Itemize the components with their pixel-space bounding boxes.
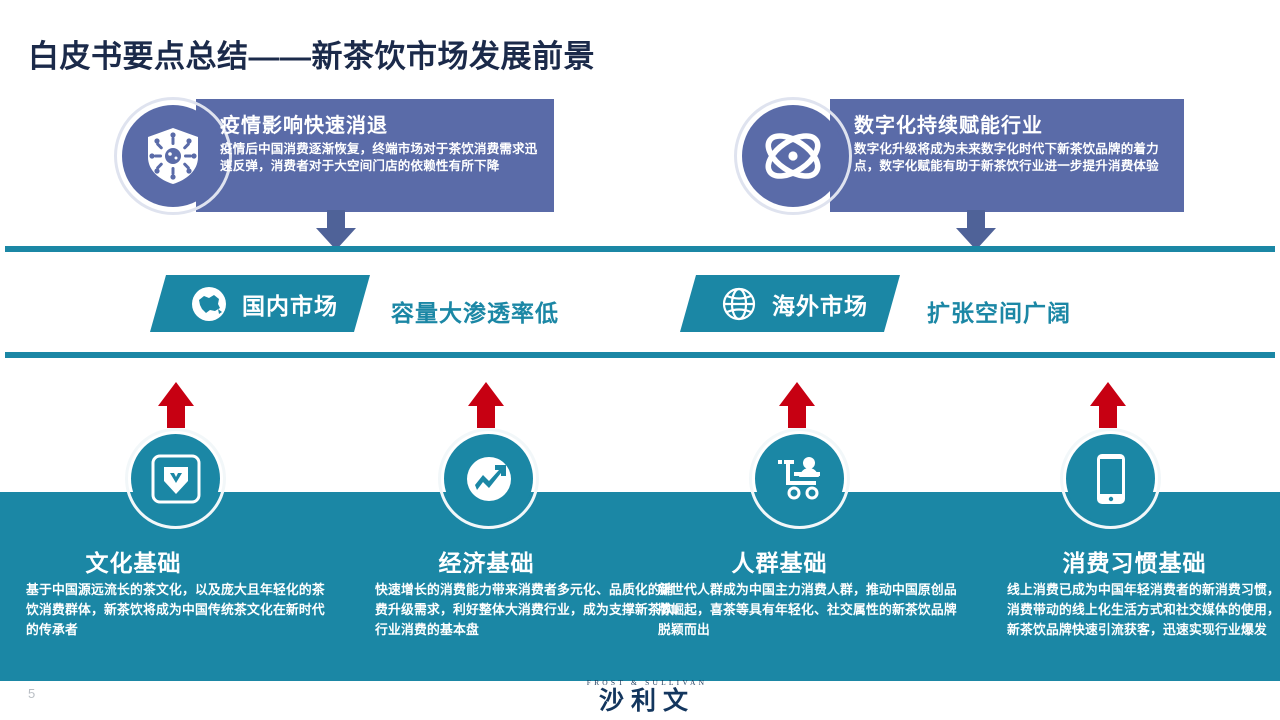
growth-chart-icon — [444, 434, 533, 523]
divider-rule-top — [5, 246, 1275, 252]
top-panel-digitalization[interactable]: 数字化持续赋能行业 数字化升级将成为未来数字化时代下新茶饮品牌的着力点，数字化赋… — [728, 97, 1184, 212]
card-body: 快速增长的消费能力带来消费者多元化、品质化的消费升级需求，利好整体大消费行业，成… — [375, 580, 680, 640]
divider-rule-bottom — [5, 352, 1275, 358]
arrow-head — [1090, 382, 1126, 406]
china-map-icon — [190, 285, 228, 323]
page-title: 白皮书要点总结——新茶饮市场发展前景 — [28, 31, 595, 76]
market-caption-domestic: 容量大渗透率低 — [391, 294, 559, 328]
arrow-stem — [1099, 405, 1117, 428]
panel-body: 数字化升级将成为未来数字化时代下新茶饮品牌的着力点，数字化赋能有助于新茶饮行业进… — [854, 141, 1176, 175]
arrow-stem — [788, 405, 806, 428]
up-arrow-economy — [468, 382, 504, 428]
panel-body: 疫情后中国消费逐渐恢复，终端市场对于茶饮消费需求迅速反弹，消费者对于大空间门店的… — [220, 141, 546, 175]
logo-chinese-text: 沙利文 — [572, 687, 722, 715]
arrow-stem — [327, 210, 345, 230]
up-arrow-population — [779, 382, 815, 428]
banner-domestic-market[interactable]: 国内市场 — [150, 275, 370, 332]
frost-sullivan-logo: FROST & SULLIVAN 沙利文 — [572, 678, 722, 715]
shopping-cart-person-icon — [755, 434, 844, 523]
down-arrow-right — [956, 210, 996, 250]
banner-label: 海外市场 — [772, 287, 868, 321]
mobile-phone-icon — [1066, 434, 1155, 523]
up-arrow-culture — [158, 382, 194, 428]
arrow-head — [468, 382, 504, 406]
card-title: 消费习惯基础 — [979, 544, 1280, 578]
page-number: 5 — [28, 686, 35, 701]
card-title: 人群基础 — [624, 544, 935, 578]
atom-icon — [742, 105, 844, 207]
arrow-stem — [477, 405, 495, 428]
slide-canvas: 白皮书要点总结——新茶饮市场发展前景 — [0, 0, 1280, 720]
shield-check-icon — [131, 434, 220, 523]
card-body: 线上消费已成为中国年轻消费者的新消费习惯，线上消费带动的线上化生活方式和社交媒体… — [1007, 580, 1280, 640]
arrow-head — [779, 382, 815, 406]
top-panel-epidemic[interactable]: 疫情影响快速消退 疫情后中国消费逐渐恢复，终端市场对于茶饮消费需求迅速反弹，消费… — [108, 97, 554, 212]
card-body: 新世代人群成为中国主力消费人群，推动中国原创品牌崛起，喜茶等具有年轻化、社交属性… — [658, 580, 963, 640]
arrow-head — [158, 382, 194, 406]
card-title: 经济基础 — [331, 544, 642, 578]
up-arrow-habits — [1090, 382, 1126, 428]
panel-title: 疫情影响快速消退 — [220, 109, 388, 138]
down-arrow-left — [316, 210, 356, 250]
arrow-stem — [167, 405, 185, 428]
panel-title: 数字化持续赋能行业 — [854, 109, 1043, 138]
arrow-stem — [967, 210, 985, 230]
shield-virus-icon — [122, 105, 224, 207]
globe-icon — [720, 285, 758, 323]
card-body: 基于中国源远流长的茶文化，以及庞大且年轻化的茶饮消费群体，新茶饮将成为中国传统茶… — [26, 580, 331, 640]
card-title: 文化基础 — [0, 544, 289, 578]
banner-label: 国内市场 — [242, 287, 338, 321]
market-caption-overseas: 扩张空间广阔 — [927, 294, 1071, 328]
banner-overseas-market[interactable]: 海外市场 — [680, 275, 900, 332]
